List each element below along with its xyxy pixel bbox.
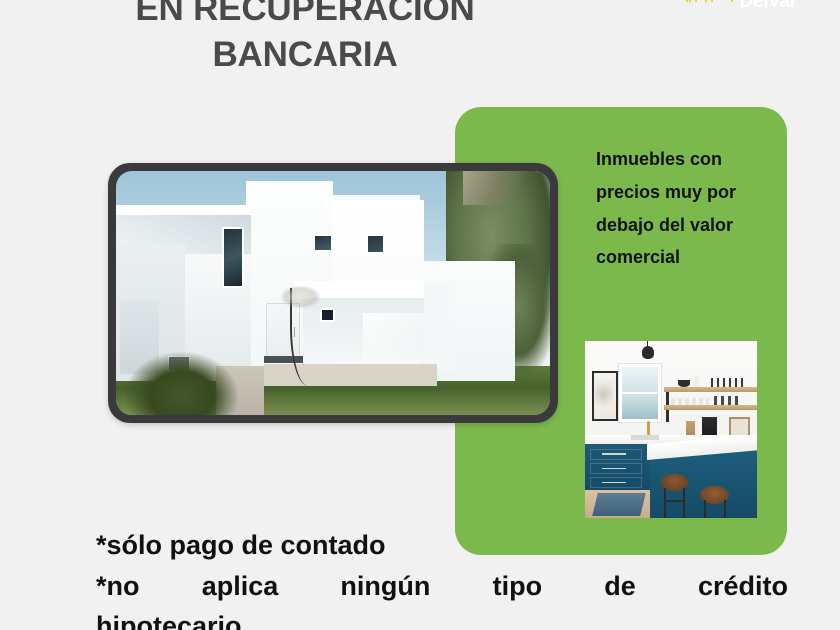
kitchen-shelf-upper	[664, 387, 757, 392]
kitchen-jars	[711, 378, 745, 387]
kitchen-stool-1-legs	[664, 488, 685, 518]
kitchen-picture-frame	[729, 417, 750, 436]
footnote-word-4: tipo	[493, 566, 542, 607]
house-photo-frame	[108, 163, 558, 423]
page-title: EN RECUPERACIÓN BANCARIA	[0, 0, 610, 78]
footnotes: *sólo pago de contado *no aplica ningún …	[96, 525, 796, 630]
footnote-word-2: aplica	[202, 566, 279, 607]
kitchen-rug	[592, 493, 646, 516]
footnote-word-1: *no	[96, 566, 140, 607]
headline-line-2: BANCARIA	[0, 32, 610, 78]
kitchen-shelf-lower	[664, 405, 757, 410]
building-bar-large	[711, 0, 733, 2]
photo-patio	[264, 364, 438, 386]
footnote-word-3: ningún	[340, 566, 430, 607]
kitchen-tins	[714, 396, 742, 405]
kitchen-photo	[585, 341, 757, 518]
buildings-icon	[686, 0, 733, 17]
building-bar-small	[686, 0, 691, 2]
footnote-word-6: crédito	[698, 566, 788, 607]
photo-vine-flowers	[281, 286, 320, 308]
kitchen-shelf-bracket-lower	[666, 410, 669, 422]
building-bar-medium	[695, 0, 707, 2]
kitchen-cups	[671, 398, 709, 405]
brand-text: Asesor Inmobiliario DelVar	[740, 0, 818, 17]
footnote-word-5: de	[604, 566, 636, 607]
green-panel-copy: Inmuebles con precios muy por debajo del…	[596, 143, 776, 274]
kitchen-wall-art-image	[595, 380, 614, 412]
photo-pillar	[424, 281, 454, 369]
footnote-line-1: *sólo pago de contado	[96, 525, 796, 566]
kitchen-shelf-bracket-upper	[666, 392, 669, 404]
kitchen-bowl	[678, 380, 690, 387]
kitchen-vase	[693, 376, 698, 387]
kitchen-coffee-maker	[702, 417, 717, 436]
brand-logo: Asesor Inmobiliario DelVar	[686, 0, 818, 17]
kitchen-window-mullion	[619, 392, 660, 394]
photo-shrub	[125, 352, 238, 415]
kitchen-drawer-handle-2	[602, 468, 626, 470]
photo-branch	[463, 171, 541, 205]
kitchen-sink	[631, 435, 659, 440]
photo-window-upper-left	[313, 234, 333, 251]
headline-line-1: EN RECUPERACIÓN	[0, 0, 610, 32]
brand-name: DelVar	[740, 0, 818, 11]
kitchen-stool-1-rung	[666, 500, 683, 502]
kitchen-drawer-handle-1	[602, 453, 626, 455]
photo-window-small	[320, 308, 335, 323]
poster-canvas: EN RECUPERACIÓN BANCARIA Asesor Inmobili…	[0, 0, 840, 630]
kitchen-stool-2-legs	[704, 500, 726, 518]
footnote-line-2: *no aplica ningún tipo de crédito	[96, 566, 788, 607]
kitchen-pendant-lamp	[642, 346, 654, 358]
photo-window-upper-right	[366, 234, 386, 254]
photo-window-tall	[222, 227, 244, 288]
footnote-line-3: hipotecario	[96, 606, 796, 630]
kitchen-drawer-handle-3	[602, 482, 626, 484]
house-photo	[116, 171, 550, 415]
